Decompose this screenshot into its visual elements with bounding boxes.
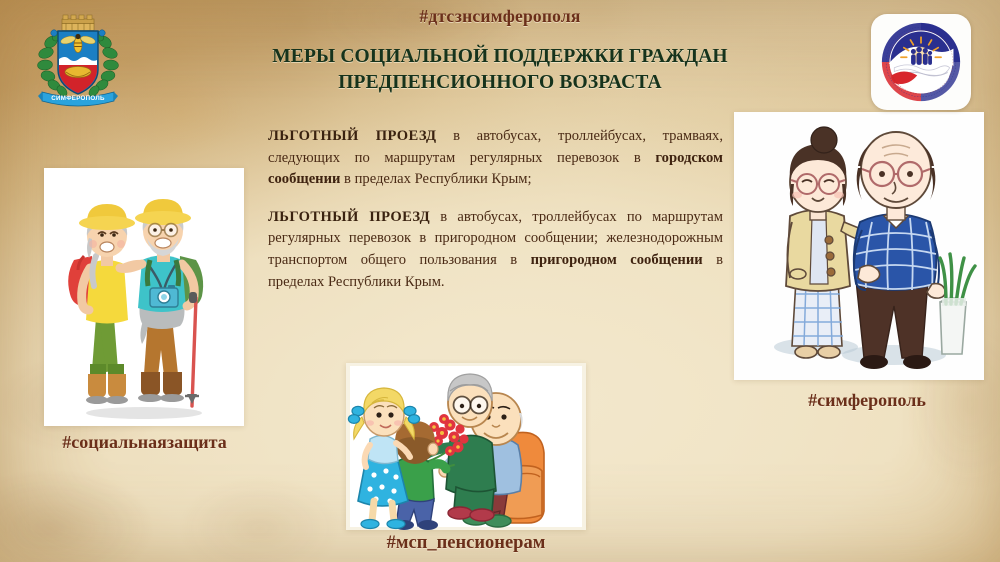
poster-root: СИМФЕРОПОЛЬ bbox=[0, 0, 1000, 562]
title-line-2: ПРЕДПЕНСИОННОГО ВОЗРАСТА bbox=[338, 72, 662, 93]
page-title: МЕРЫ СОЦИАЛЬНОЙ ПОДДЕРЖКИ ГРАЖДАН ПРЕДПЕ… bbox=[190, 44, 810, 96]
children-giving-flowers-to-grandparents-illustration bbox=[346, 363, 586, 530]
coat-of-arms-simferopol-icon: СИМФЕРОПОЛЬ bbox=[26, 12, 130, 112]
benefit-2-bold-b: пригородном сообщении bbox=[531, 252, 703, 268]
benefit-2-lead: ЛЬГОТНЫЙ ПРОЕЗД bbox=[268, 209, 430, 225]
caption-simferopol: #симферополь bbox=[772, 390, 962, 411]
benefit-1-text-c: в пределах Республики Крым; bbox=[340, 171, 531, 187]
caption-social-protection: #социальнаязащита bbox=[22, 432, 267, 453]
benefit-paragraph-1: ЛЬГОТНЫЙ ПРОЕЗД в автобусах, троллейбуса… bbox=[268, 126, 723, 191]
elderly-couple-with-groceries-illustration bbox=[734, 112, 984, 380]
title-line-1: МЕРЫ СОЦИАЛЬНОЙ ПОДДЕРЖКИ ГРАЖДАН bbox=[272, 46, 728, 67]
elderly-hiking-couple-illustration bbox=[44, 168, 244, 426]
benefit-1-lead: ЛЬГОТНЫЙ ПРОЕЗД bbox=[268, 128, 436, 144]
coat-of-arms-ribbon-text: СИМФЕРОПОЛЬ bbox=[51, 95, 105, 102]
top-hashtag: #дтсзнсимферополя bbox=[0, 6, 1000, 27]
caption-msp-pensioners: #мсп_пенсионерам bbox=[338, 533, 594, 554]
benefits-text-block: ЛЬГОТНЫЙ ПРОЕЗД в автобусах, троллейбуса… bbox=[268, 126, 723, 293]
social-protection-emblem-icon bbox=[871, 14, 971, 110]
benefit-paragraph-2: ЛЬГОТНЫЙ ПРОЕЗД в автобусах, троллейбуса… bbox=[268, 207, 723, 293]
